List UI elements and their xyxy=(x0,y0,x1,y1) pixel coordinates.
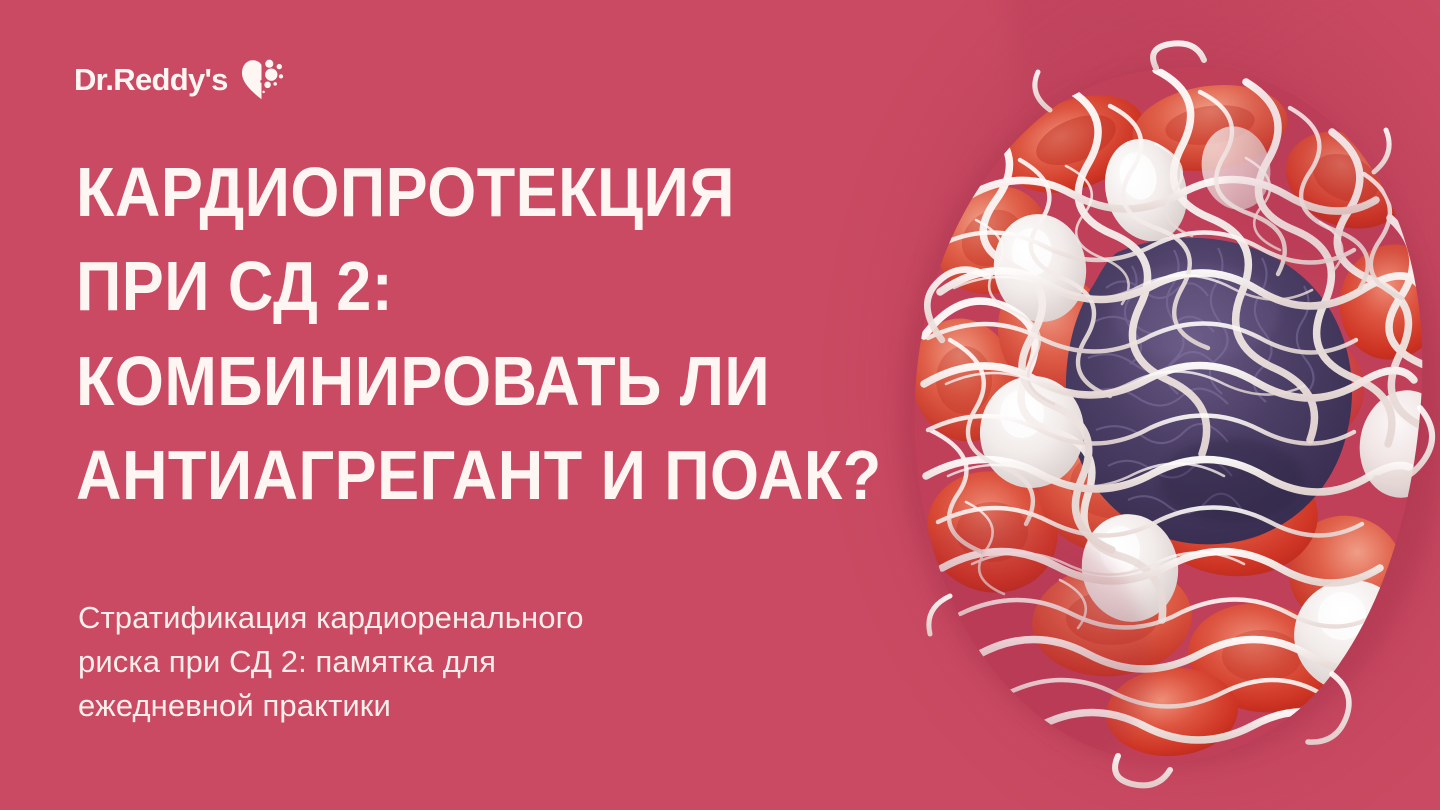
headline-line-4: АНТИАГРЕГАНТ И ПОАК? xyxy=(76,439,823,511)
heart-dots-icon xyxy=(241,58,287,100)
subtitle-line-1: Стратификация кардиоренального xyxy=(78,596,838,640)
headline-line-2: ПРИ СД 2: xyxy=(76,250,823,322)
subtitle-line-2: риска при СД 2: памятка для xyxy=(78,640,838,684)
slide-headline: КАРДИОПРОТЕКЦИЯ ПРИ СД 2: КОМБИНИРОВАТЬ … xyxy=(76,156,906,534)
subtitle-line-3: ежедневной практики xyxy=(78,684,838,728)
headline-line-1: КАРДИОПРОТЕКЦИЯ xyxy=(76,156,823,228)
brand-logo: Dr.Reddy's xyxy=(74,58,287,100)
slide-subtitle: Стратификация кардиоренального риска при… xyxy=(78,596,838,728)
title-slide: Dr.Reddy's КАРДИОПРОТЕКЦИЯ ПРИ СД 2: КОМ… xyxy=(0,0,1440,810)
headline-line-3: КОМБИНИРОВАТЬ ЛИ xyxy=(76,345,823,417)
blood-clot-fibrin-net-illustration xyxy=(880,40,1440,790)
brand-name: Dr.Reddy's xyxy=(74,64,228,95)
